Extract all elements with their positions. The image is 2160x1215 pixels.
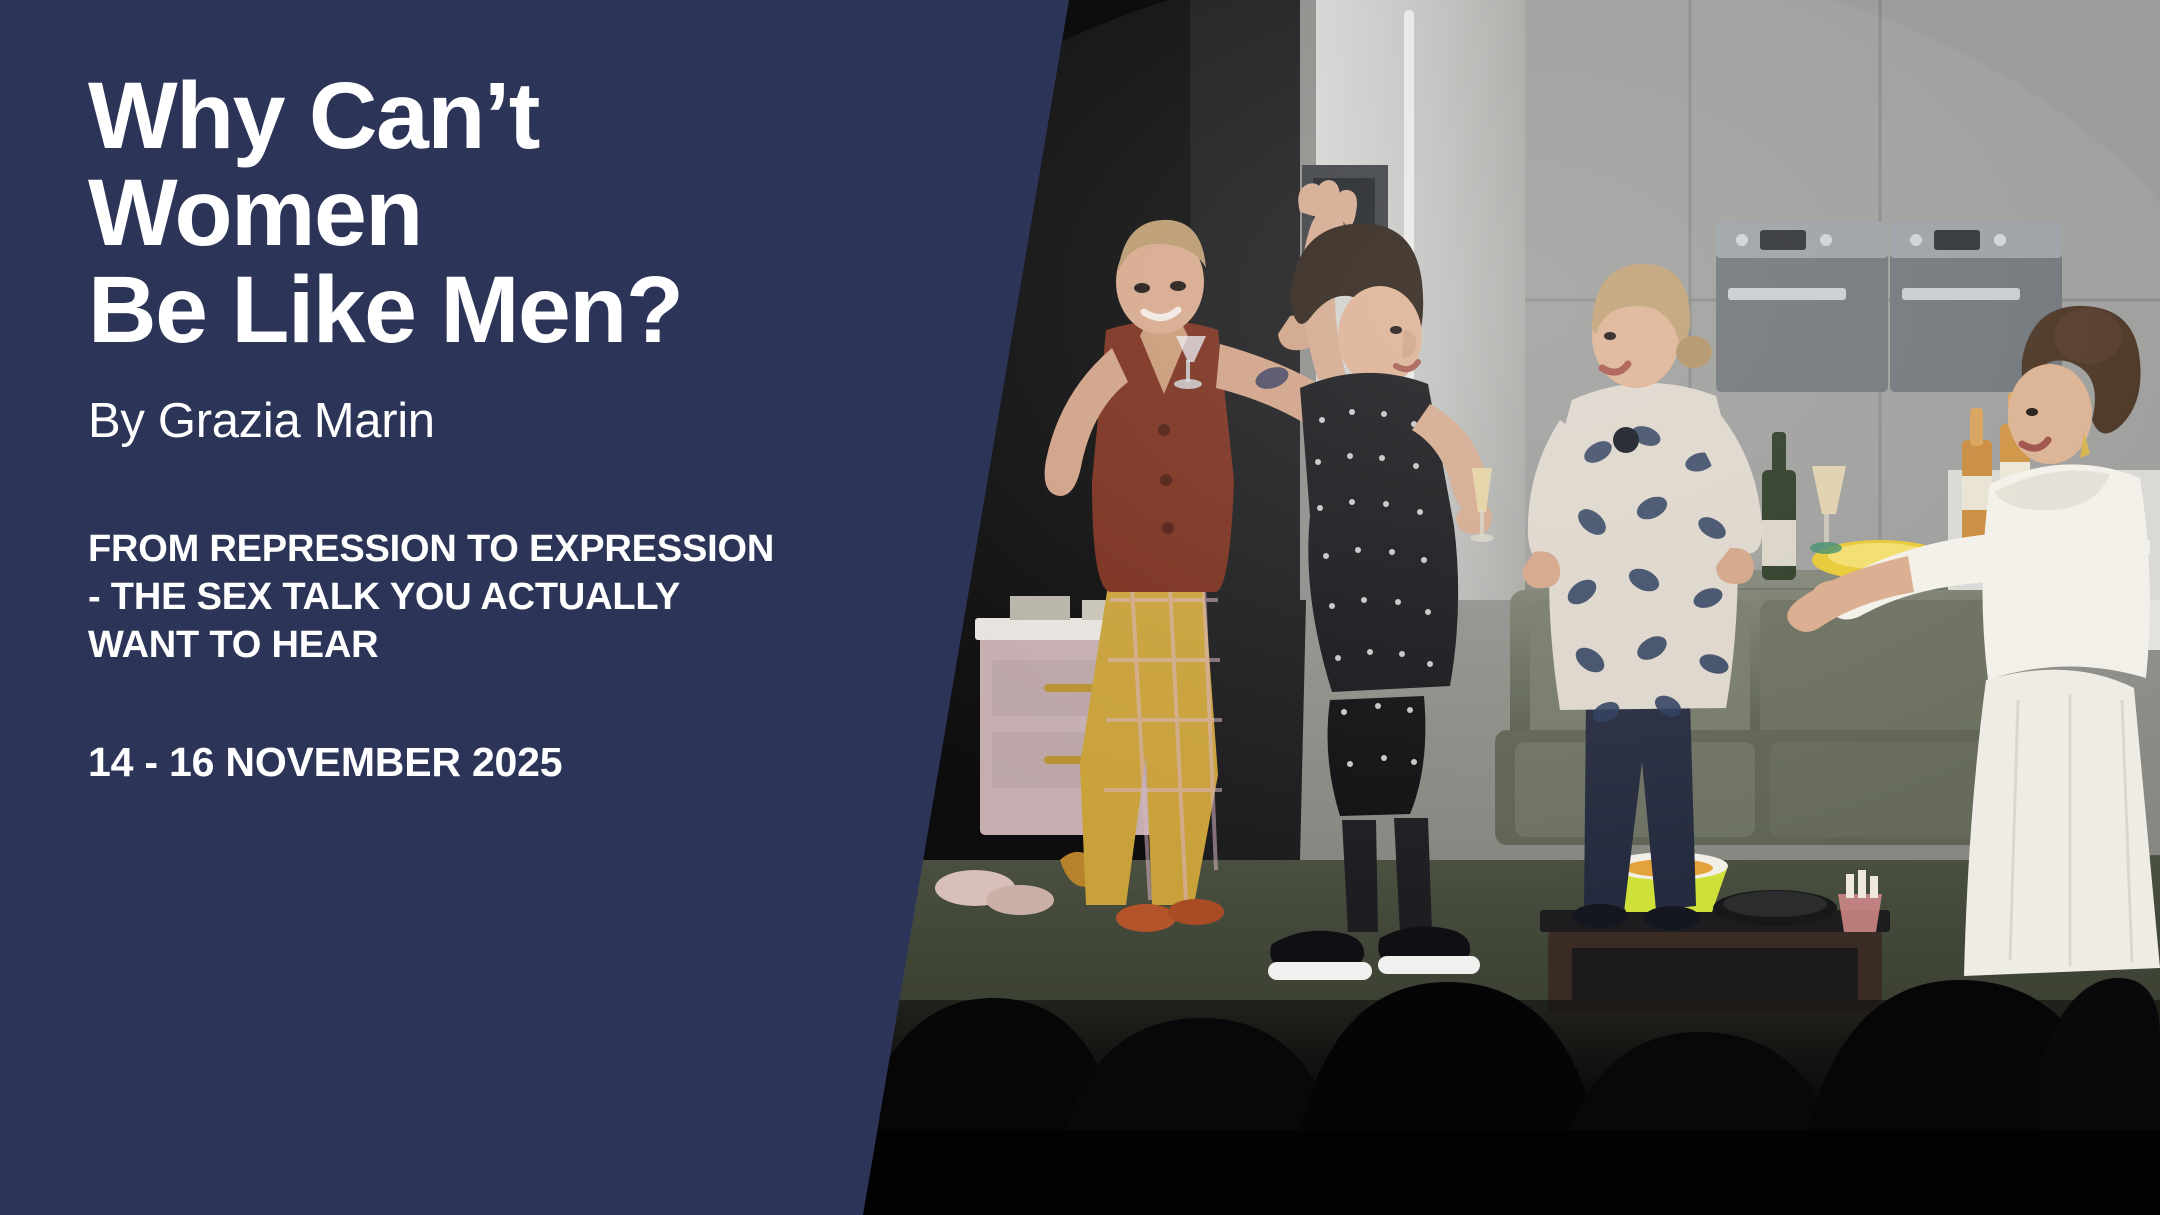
author-byline: By Grazia Marin (88, 393, 860, 449)
event-dates: 14 - 16 NOVEMBER 2025 (88, 739, 860, 786)
poster-tagline: FROM REPRESSION TO EXPRESSION - THE SEX … (88, 525, 860, 670)
poster-text-column: Why Can’t Women Be Like Men? By Grazia M… (0, 0, 860, 1215)
page-title: Why Can’t Women Be Like Men? (88, 0, 860, 359)
event-poster: Why Can’t Women Be Like Men? By Grazia M… (0, 0, 2160, 1215)
